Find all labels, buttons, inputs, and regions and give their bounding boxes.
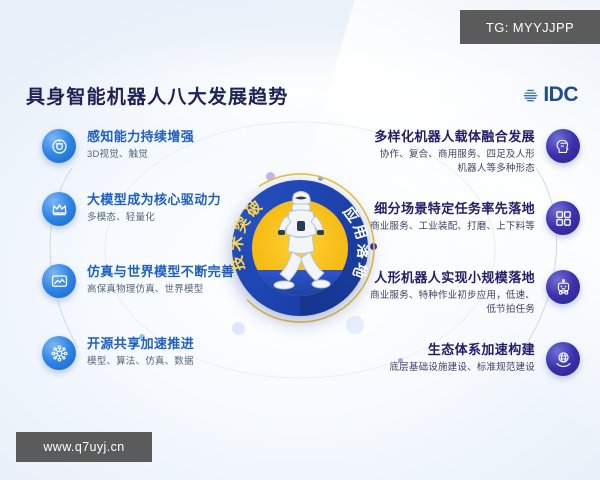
trend-heading: 人形机器人实现小规模落地 — [370, 270, 535, 286]
idc-logo: IDC — [521, 83, 578, 107]
trend-subtext: 3D视觉、触觉 — [87, 148, 194, 162]
emblem-ring-text: 技术突破 应用落地 — [232, 180, 368, 316]
trend-subtext: 商业服务、工业装配、打磨、上下料等 — [370, 220, 535, 234]
crown-icon — [42, 192, 76, 226]
trend-heading: 生态体系加速构建 — [389, 342, 535, 358]
trend-subtext: 多模态、轻量化 — [87, 211, 221, 225]
header: 具身智能机器人八大发展趋势 IDC — [0, 72, 600, 118]
simulation-monitor-icon — [42, 264, 76, 298]
svg-text:应用落地: 应用落地 — [339, 203, 368, 283]
trend-item-ecosystem[interactable]: 生态体系加速构建 底层基础设施建设、标准规范建设 — [330, 341, 580, 376]
idc-logo-text: IDC — [543, 83, 578, 107]
trend-subtext: 模型、算法、仿真、数据 — [87, 355, 194, 369]
trend-heading: 感知能力持续增强 — [87, 129, 194, 145]
trend-item-open-source[interactable]: 开源共享加速推进 模型、算法、仿真、数据 — [42, 335, 292, 370]
trend-heading: 多样化机器人载体融合发展 — [374, 129, 535, 145]
grid-squares-icon — [546, 201, 580, 235]
trend-subtext: 商业服务、特种作业初步应用，低速、 低节拍任务 — [370, 289, 535, 317]
trend-subtext: 协作、复合、商用服务、四足及人形 机器人等多种形态 — [374, 148, 535, 176]
emblem-left-label: 技术突破 — [232, 195, 268, 272]
robot-head-brain-icon — [546, 129, 580, 163]
page-title: 具身智能机器人八大发展趋势 — [26, 82, 289, 109]
svg-text:技术突破: 技术突破 — [232, 195, 268, 272]
site-watermark: www.q7uyj.cn — [16, 432, 152, 462]
infographic-canvas: 具身智能机器人八大发展趋势 IDC — [0, 0, 600, 480]
trend-heading: 大模型成为核心驱动力 — [87, 192, 221, 208]
trend-heading: 细分场景特定任务率先落地 — [370, 201, 535, 217]
perception-camera-icon — [42, 129, 76, 163]
center-emblem: 技术突破 应用落地 — [232, 180, 368, 316]
idc-sphere-icon — [521, 86, 540, 105]
emblem-right-label: 应用落地 — [339, 203, 368, 283]
trend-item-perception[interactable]: 感知能力持续增强 3D视觉、触觉 — [42, 128, 292, 163]
trend-subtext: 底层基础设施建设、标准规范建设 — [389, 361, 535, 375]
trend-subtext: 高保真物理仿真、世界模型 — [87, 283, 234, 297]
globe-hand-icon — [546, 342, 580, 376]
trend-heading: 仿真与世界模型不断完善 — [87, 264, 234, 280]
open-source-network-icon — [42, 336, 76, 370]
telegram-watermark: TG: MYYJJPP — [460, 10, 600, 44]
trend-heading: 开源共享加速推进 — [87, 336, 194, 352]
trend-item-diverse-carriers[interactable]: 多样化机器人载体融合发展 协作、复合、商用服务、四足及人形 机器人等多种形态 — [330, 128, 580, 176]
wheeled-robot-icon — [546, 270, 580, 304]
